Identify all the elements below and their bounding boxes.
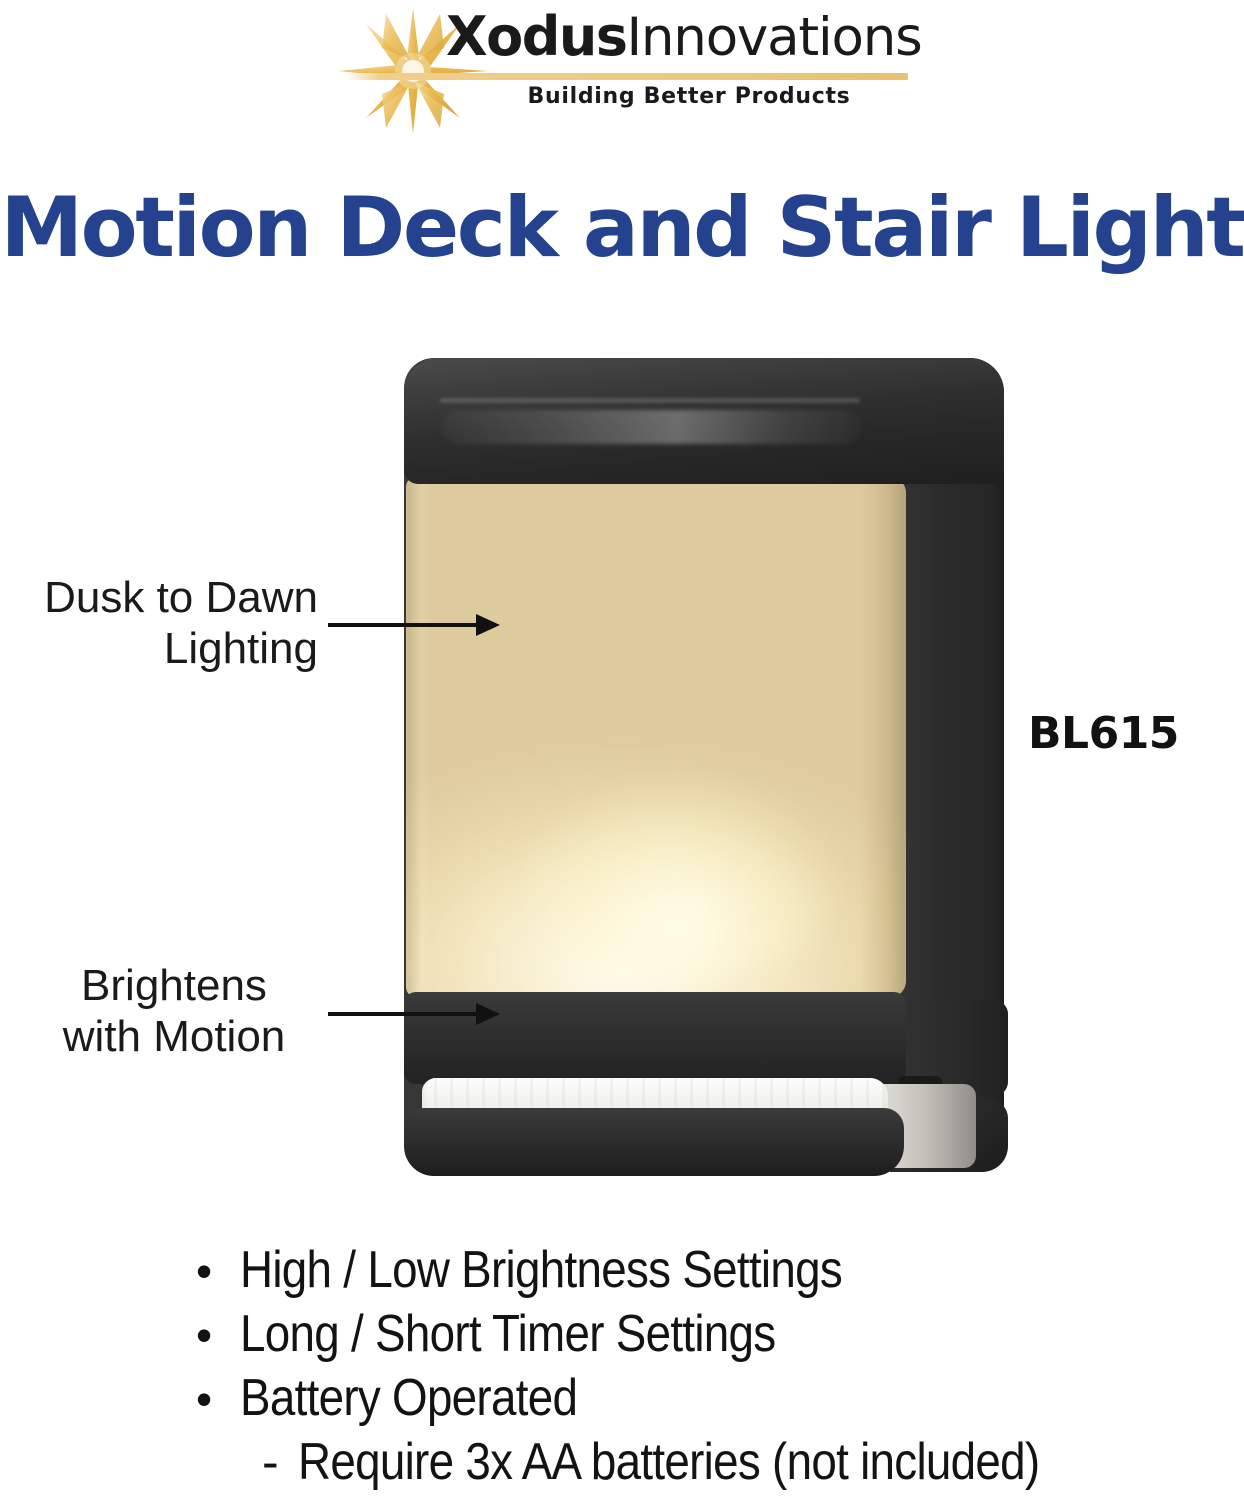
logo-name-light: Innovations	[626, 7, 921, 68]
list-item: • Battery Operated	[196, 1370, 1196, 1426]
feature-text: Long / Short Timer Settings	[240, 1306, 775, 1362]
product-infographic: XodusInnovations Building Better Product…	[0, 0, 1244, 1500]
diffuser-right-edge	[860, 477, 906, 997]
brand-logo: XodusInnovations Building Better Product…	[338, 4, 908, 130]
page-title: Motion Deck and Stair Light	[0, 186, 1244, 269]
logo-name-bold: Xodus	[446, 5, 626, 68]
bullet-glyph: •	[196, 1376, 240, 1422]
logo-wordmark: XodusInnovations	[446, 10, 922, 64]
top-cap-edge-highlight	[440, 398, 860, 403]
callout-label-brightens-with-motion: Brightens with Motion	[30, 960, 318, 1063]
callout-arrow-motion-icon	[328, 1003, 500, 1025]
product-base	[404, 1108, 904, 1176]
logo-tagline: Building Better Products	[470, 84, 908, 109]
list-item: • High / Low Brightness Settings	[196, 1242, 1196, 1298]
arrow-shaft	[328, 623, 478, 627]
bullet-glyph: •	[196, 1248, 240, 1294]
list-item: • Long / Short Timer Settings	[196, 1306, 1196, 1362]
callout-arrow-dusk-to-dawn-icon	[328, 614, 500, 636]
feature-text: Battery Operated	[240, 1370, 577, 1426]
bullet-glyph: •	[196, 1312, 240, 1358]
sub-feature-text: Require 3x AA batteries (not included)	[298, 1434, 1039, 1490]
logo-gold-rule	[346, 73, 908, 80]
model-number: BL615	[1028, 708, 1179, 759]
arrow-head	[476, 1003, 500, 1025]
dash-glyph: -	[262, 1437, 298, 1487]
arrow-head	[476, 614, 500, 636]
diffuser-left-edge	[406, 477, 432, 997]
callout-label-dusk-to-dawn: Dusk to Dawn Lighting	[0, 572, 318, 675]
top-cap-sheen	[442, 410, 862, 444]
sub-list-item: - Require 3x AA batteries (not included)	[262, 1434, 1196, 1490]
arrow-shaft	[328, 1012, 478, 1016]
diffuser-glow	[518, 782, 838, 982]
feature-list: • High / Low Brightness Settings • Long …	[196, 1242, 1196, 1491]
product-image	[398, 352, 1010, 1176]
feature-text: High / Low Brightness Settings	[240, 1242, 842, 1298]
